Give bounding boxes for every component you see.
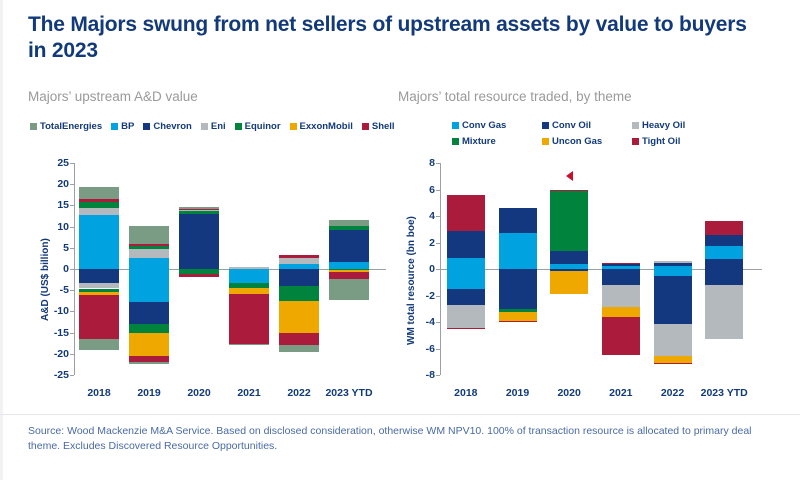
- stacked-bar-2021[interactable]: [229, 163, 269, 375]
- bar-segment-tight-oil: [499, 321, 537, 322]
- y-axis-tick-label: -2: [409, 290, 435, 302]
- bar-segment-shell: [279, 255, 319, 258]
- y-axis-tickmark: [70, 333, 74, 334]
- bar-segment-conv-oil: [705, 235, 743, 246]
- legend-item-label: Conv Oil: [552, 120, 591, 131]
- y-axis-tickmark: [436, 216, 440, 217]
- source-note: Source: Wood Mackenzie M&A Service. Base…: [28, 424, 773, 454]
- legend-item-label: Shell: [372, 121, 395, 132]
- bar-segment-shell: [79, 199, 119, 202]
- triangle-marker-icon: [566, 171, 573, 181]
- legend-item-label: Chevron: [153, 121, 192, 132]
- bar-segment-bp: [229, 269, 269, 283]
- bar-segment-conv-oil: [447, 289, 485, 306]
- legend-swatch-icon: [201, 123, 208, 130]
- bar-segment-bp: [79, 215, 119, 269]
- bar-segment-eni: [129, 249, 169, 257]
- bar-segment-tight-oil: [602, 317, 640, 355]
- stacked-bar-2020[interactable]: [179, 163, 219, 375]
- bar-segment-conv-oil: [499, 208, 537, 233]
- bar-segment-equinor: [179, 211, 219, 214]
- bar-segment-shell: [179, 209, 219, 210]
- legend-item-label: Equinor: [245, 121, 281, 132]
- stacked-bar-2023-ytd[interactable]: [705, 163, 743, 375]
- bar-segment-totalenergies: [329, 220, 369, 226]
- bar-segment-equinor: [79, 202, 119, 208]
- right-chart-legend: Conv GasConv OilHeavy OilMixtureUncon Ga…: [452, 120, 732, 152]
- bar-segment-tight-oil: [654, 363, 692, 364]
- chart-majors-upstream-ad-value: A&D (US$ billion)2520151050-5-10-15-20-2…: [28, 155, 393, 400]
- bar-segment-conv-gas: [705, 246, 743, 259]
- y-axis-tickmark: [436, 296, 440, 297]
- bar-segment-eni: [179, 210, 219, 211]
- y-axis-tick-label: 0: [43, 263, 69, 275]
- legend-swatch-icon: [632, 122, 639, 129]
- y-axis-tick-label: 10: [43, 221, 69, 233]
- legend-swatch-icon: [542, 138, 549, 145]
- bar-segment-totalenergies: [329, 279, 369, 300]
- bar-segment-heavy-oil: [654, 261, 692, 263]
- stacked-bar-2020[interactable]: [550, 163, 588, 375]
- bar-segment-uncon-gas: [550, 271, 588, 294]
- bar-segment-heavy-oil: [602, 285, 640, 308]
- bar-segment-totalenergies: [179, 207, 219, 209]
- legend-item-label: Conv Gas: [462, 120, 506, 131]
- legend-item-uncon-gas[interactable]: Uncon Gas: [542, 136, 628, 147]
- y-axis-tickmark: [436, 375, 440, 376]
- bar-segment-heavy-oil: [654, 324, 692, 356]
- bar-segment-uncon-gas: [654, 356, 692, 363]
- legend-item-exxonmobil[interactable]: ExxonMobil: [290, 121, 353, 132]
- bar-segment-conv-oil: [602, 264, 640, 266]
- legend-item-chevron[interactable]: Chevron: [143, 121, 192, 132]
- y-axis-tickmark: [436, 349, 440, 350]
- bar-segment-uncon-gas: [499, 312, 537, 321]
- legend-swatch-icon: [452, 122, 459, 129]
- chart-majors-total-resource-traded: WM total resource (bn boe)86420-2-4-6-82…: [400, 155, 772, 400]
- bar-segment-conv-oil: [602, 269, 640, 285]
- legend-item-label: Heavy Oil: [642, 120, 685, 131]
- footer-divider: [0, 414, 800, 415]
- bar-segment-equinor: [329, 226, 369, 230]
- bar-segment-totalenergies: [79, 187, 119, 199]
- legend-item-label: TotalEnergies: [40, 121, 102, 132]
- bar-segment-shell: [279, 333, 319, 344]
- y-axis-tick-label: 4: [409, 210, 435, 222]
- bar-segment-conv-gas: [654, 269, 692, 276]
- stacked-bar-2019[interactable]: [499, 163, 537, 375]
- y-axis-tick-label: -25: [43, 369, 69, 381]
- bar-segment-eni: [79, 208, 119, 214]
- y-axis-tickmark: [70, 248, 74, 249]
- y-axis-tickmark: [70, 205, 74, 206]
- y-axis-tickmark: [70, 375, 74, 376]
- y-axis-tickmark: [70, 163, 74, 164]
- bar-segment-bp: [129, 258, 169, 269]
- bar-segment-conv-oil: [447, 231, 485, 258]
- left-edge-strip: [0, 0, 3, 480]
- y-axis-tick-label: -6: [409, 343, 435, 355]
- bar-segment-conv-gas: [499, 233, 537, 269]
- legend-swatch-icon: [290, 123, 297, 130]
- y-axis-tickmark: [436, 322, 440, 323]
- stacked-bar-2022[interactable]: [654, 163, 692, 375]
- right-chart-subtitle: Majors’ total resource traded, by theme: [398, 89, 632, 104]
- bar-segment-conv-gas: [447, 258, 485, 269]
- bar-segment-shell: [179, 274, 219, 277]
- bar-segment-totalenergies: [229, 344, 269, 345]
- legend-swatch-icon: [452, 138, 459, 145]
- y-axis-tickmark: [70, 311, 74, 312]
- bar-segment-chevron: [329, 230, 369, 262]
- legend-swatch-icon: [542, 122, 549, 129]
- bar-segment-conv-oil: [705, 269, 743, 285]
- bar-segment-exxonmobil: [279, 301, 319, 334]
- bar-segment-shell: [229, 294, 269, 344]
- bar-segment-shell: [329, 272, 369, 279]
- y-axis-tick-label: 8: [409, 157, 435, 169]
- slide-root: The Majors swung from net sellers of ups…: [0, 0, 800, 480]
- y-axis-tickmark: [70, 354, 74, 355]
- x-axis-label: 2023 YTD: [309, 387, 389, 399]
- bar-segment-mixture: [550, 191, 588, 251]
- bar-segment-totalenergies: [129, 226, 169, 245]
- y-axis-tickmark: [70, 290, 74, 291]
- legend-item-label: Eni: [211, 121, 226, 132]
- y-axis-tickmark: [70, 184, 74, 185]
- y-axis-tick-label: -10: [43, 305, 69, 317]
- bar-segment-conv-gas: [447, 269, 485, 289]
- bar-segment-chevron: [279, 269, 319, 286]
- y-axis-tick-label: -4: [409, 316, 435, 328]
- bar-segment-exxonmobil: [129, 333, 169, 356]
- bar-segment-tight-oil: [447, 195, 485, 231]
- legend-item-shell[interactable]: Shell: [362, 121, 395, 132]
- bar-segment-bp: [129, 269, 169, 302]
- x-axis-label: 2023 YTD: [684, 387, 764, 399]
- legend-item-totalenergies[interactable]: TotalEnergies: [30, 121, 102, 132]
- legend-swatch-icon: [632, 138, 639, 145]
- bar-segment-bp: [329, 262, 369, 269]
- y-axis-tick-label: -15: [43, 327, 69, 339]
- legend-item-tight-oil[interactable]: Tight Oil: [632, 136, 718, 147]
- bar-segment-conv-oil: [654, 263, 692, 266]
- bar-segment-heavy-oil: [447, 305, 485, 328]
- bar-segment-totalenergies: [129, 362, 169, 364]
- stacked-bar-2019[interactable]: [129, 163, 169, 375]
- legend-swatch-icon: [362, 123, 369, 130]
- y-axis-tick-label: -5: [43, 284, 69, 296]
- bar-segment-equinor: [129, 324, 169, 334]
- bar-segment-eni: [279, 258, 319, 264]
- y-axis-tick-label: 20: [43, 178, 69, 190]
- y-axis-tick-label: -20: [43, 348, 69, 360]
- bar-segment-tight-oil: [447, 328, 485, 329]
- bar-segment-chevron: [179, 214, 219, 269]
- bar-segment-chevron: [79, 269, 119, 283]
- legend-item-label: Uncon Gas: [552, 136, 602, 147]
- y-axis-tickmark: [436, 190, 440, 191]
- bar-segment-conv-oil: [550, 251, 588, 264]
- left-chart-subtitle: Majors’ upstream A&D value: [28, 89, 198, 104]
- stacked-bar-2018[interactable]: [447, 163, 485, 375]
- y-axis-tick-label: 2: [409, 237, 435, 249]
- legend-item-label: ExxonMobil: [300, 121, 353, 132]
- y-axis-tick-label: 5: [43, 242, 69, 254]
- y-axis-tick-label: 25: [43, 157, 69, 169]
- left-chart-legend: TotalEnergiesBPChevronEniEquinorExxonMob…: [30, 121, 410, 135]
- bar-segment-tight-oil: [602, 263, 640, 264]
- bar-segment-shell: [129, 244, 169, 245]
- legend-item-bp[interactable]: BP: [111, 121, 134, 132]
- stacked-bar-2023-ytd[interactable]: [329, 163, 369, 375]
- y-axis-tickmark: [70, 227, 74, 228]
- y-axis-tickmark: [436, 163, 440, 164]
- bar-segment-tight-oil: [705, 221, 743, 235]
- legend-swatch-icon: [111, 123, 118, 130]
- legend-item-conv-gas[interactable]: Conv Gas: [452, 120, 538, 131]
- y-axis-tick-label: 0: [409, 263, 435, 275]
- y-axis-tick-label: 6: [409, 184, 435, 196]
- bar-segment-conv-oil: [499, 269, 537, 309]
- legend-item-label: BP: [121, 121, 134, 132]
- bar-segment-chevron: [129, 302, 169, 323]
- bar-segment-uncon-gas: [602, 307, 640, 316]
- legend-item-mixture[interactable]: Mixture: [452, 136, 538, 147]
- legend-item-conv-oil[interactable]: Conv Oil: [542, 120, 628, 131]
- legend-item-label: Tight Oil: [642, 136, 680, 147]
- bar-segment-conv-oil: [705, 259, 743, 269]
- y-axis-tickmark: [436, 243, 440, 244]
- legend-swatch-icon: [30, 123, 37, 130]
- bar-segment-shell: [79, 295, 119, 340]
- bar-segment-totalenergies: [79, 339, 119, 349]
- page-title: The Majors swung from net sellers of ups…: [28, 12, 768, 64]
- bar-segment-conv-oil: [654, 276, 692, 324]
- legend-item-eni[interactable]: Eni: [201, 121, 226, 132]
- legend-item-equinor[interactable]: Equinor: [235, 121, 281, 132]
- bar-segment-equinor: [279, 286, 319, 301]
- y-axis-tick-label: -8: [409, 369, 435, 381]
- legend-swatch-icon: [235, 123, 242, 130]
- legend-item-heavy-oil[interactable]: Heavy Oil: [632, 120, 718, 131]
- stacked-bar-2021[interactable]: [602, 163, 640, 375]
- stacked-bar-2018[interactable]: [79, 163, 119, 375]
- y-axis-tick-label: 15: [43, 199, 69, 211]
- legend-item-label: Mixture: [462, 136, 496, 147]
- bar-segment-totalenergies: [279, 345, 319, 352]
- bar-segment-heavy-oil: [705, 285, 743, 339]
- bar-segment-tight-oil: [550, 190, 588, 191]
- legend-swatch-icon: [143, 123, 150, 130]
- stacked-bar-2022[interactable]: [279, 163, 319, 375]
- bar-segment-equinor: [129, 246, 169, 250]
